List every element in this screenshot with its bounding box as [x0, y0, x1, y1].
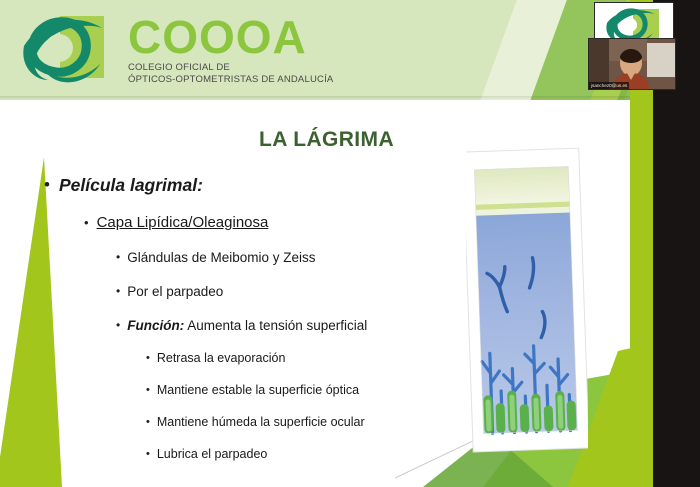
bullet-dot-icon: •: [116, 248, 120, 267]
bullet-dot-icon: •: [146, 349, 150, 367]
bullet-level3: • Por el parpadeo: [0, 282, 470, 301]
tear-film-svg: [466, 146, 588, 456]
bullet-emphasis: Función:: [127, 318, 184, 333]
eye-logo-svg: [14, 8, 124, 92]
connector-line: [395, 440, 475, 480]
bullet-text-rest: Aumenta la tensión superficial: [184, 318, 367, 333]
bullet-dot-icon: •: [146, 445, 150, 463]
video-conference-panel: COOOA Colegio Oficial jsanchez0@us.es: [586, 0, 678, 90]
bullet-text: Película lagrimal:: [59, 173, 203, 197]
bullet-text: Glándulas de Meibomio y Zeiss: [127, 248, 315, 267]
brand-subtitle-line1: COLEGIO OFICIAL DE: [128, 62, 333, 74]
video-tile-presenter[interactable]: jsanchez0@us.es: [588, 38, 676, 90]
bullet-level3: • Glándulas de Meibomio y Zeiss: [0, 248, 470, 267]
video-tile-label: jsanchez0@us.es: [589, 82, 629, 89]
bullet-dot-icon: •: [84, 212, 89, 233]
bullet-dot-icon: •: [146, 413, 150, 431]
bullet-text: Retrasa la evaporación: [157, 349, 286, 367]
tear-film-illustration: [466, 146, 588, 456]
bullet-level4: • Mantiene estable la superficie óptica: [0, 381, 470, 399]
bullet-level1: • Película lagrimal:: [0, 173, 470, 197]
brand-wordmark: COOOA COLEGIO OFICIAL DE ÓPTICOS-OPTOMET…: [128, 14, 333, 85]
presentation-slide: COOOA COLEGIO OFICIAL DE ÓPTICOS-OPTOMET…: [0, 0, 700, 487]
bullet-level4: • Retrasa la evaporación: [0, 349, 470, 367]
bullet-level2: • Capa Lipídica/Oleaginosa: [0, 212, 470, 233]
bullet-text: Mantiene estable la superficie óptica: [157, 381, 359, 399]
bullet-text: Capa Lipídica/Oleaginosa: [97, 212, 269, 233]
bullet-dot-icon: •: [44, 173, 50, 197]
bullet-dot-icon: •: [146, 381, 150, 399]
connector-line-svg: [395, 440, 475, 480]
brand-name: COOOA: [128, 14, 333, 60]
brand-subtitle: COLEGIO OFICIAL DE ÓPTICOS-OPTOMETRISTAS…: [128, 62, 333, 85]
bullet-dot-icon: •: [116, 316, 120, 335]
bullet-text: Lubrica el parpadeo: [157, 445, 268, 463]
bullet-level3-funcion: • Función: Aumenta la tensión superficia…: [0, 316, 470, 335]
bullet-text: Mantiene húmeda la superficie ocular: [157, 413, 365, 431]
bullet-level4: • Mantiene húmeda la superficie ocular: [0, 413, 470, 431]
bullet-text: Función: Aumenta la tensión superficial: [127, 316, 367, 335]
bullet-dot-icon: •: [116, 282, 120, 301]
coooa-eye-icon: [14, 8, 124, 92]
bullet-text: Por el parpadeo: [127, 282, 223, 301]
brand-subtitle-line2: ÓPTICOS-OPTOMETRISTAS DE ANDALUCÍA: [128, 74, 333, 86]
slide-body-bullets: • Película lagrimal: • Capa Lipídica/Ole…: [0, 165, 470, 463]
